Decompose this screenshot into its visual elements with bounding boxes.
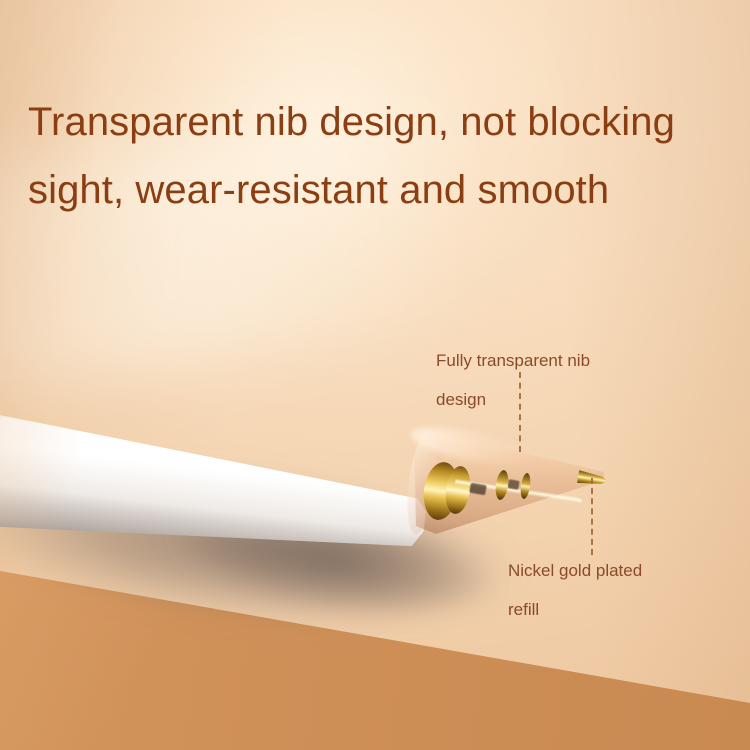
refill-annotation-leader-line: [591, 478, 593, 555]
stylus-pen: [0, 404, 450, 594]
pen-body-warm-tint: [0, 404, 444, 582]
page-title: Transparent nib design, not blocking sig…: [28, 88, 740, 224]
nib-annotation-leader-line: [519, 372, 521, 452]
refill-notch-second: [507, 479, 519, 490]
product-marketing-image: Transparent nib design, not blocking sig…: [0, 0, 750, 750]
refill-annotation-label: Nickel gold plated refill: [508, 551, 748, 629]
nib-annotation-label: Fully transparent nib design: [436, 341, 736, 419]
